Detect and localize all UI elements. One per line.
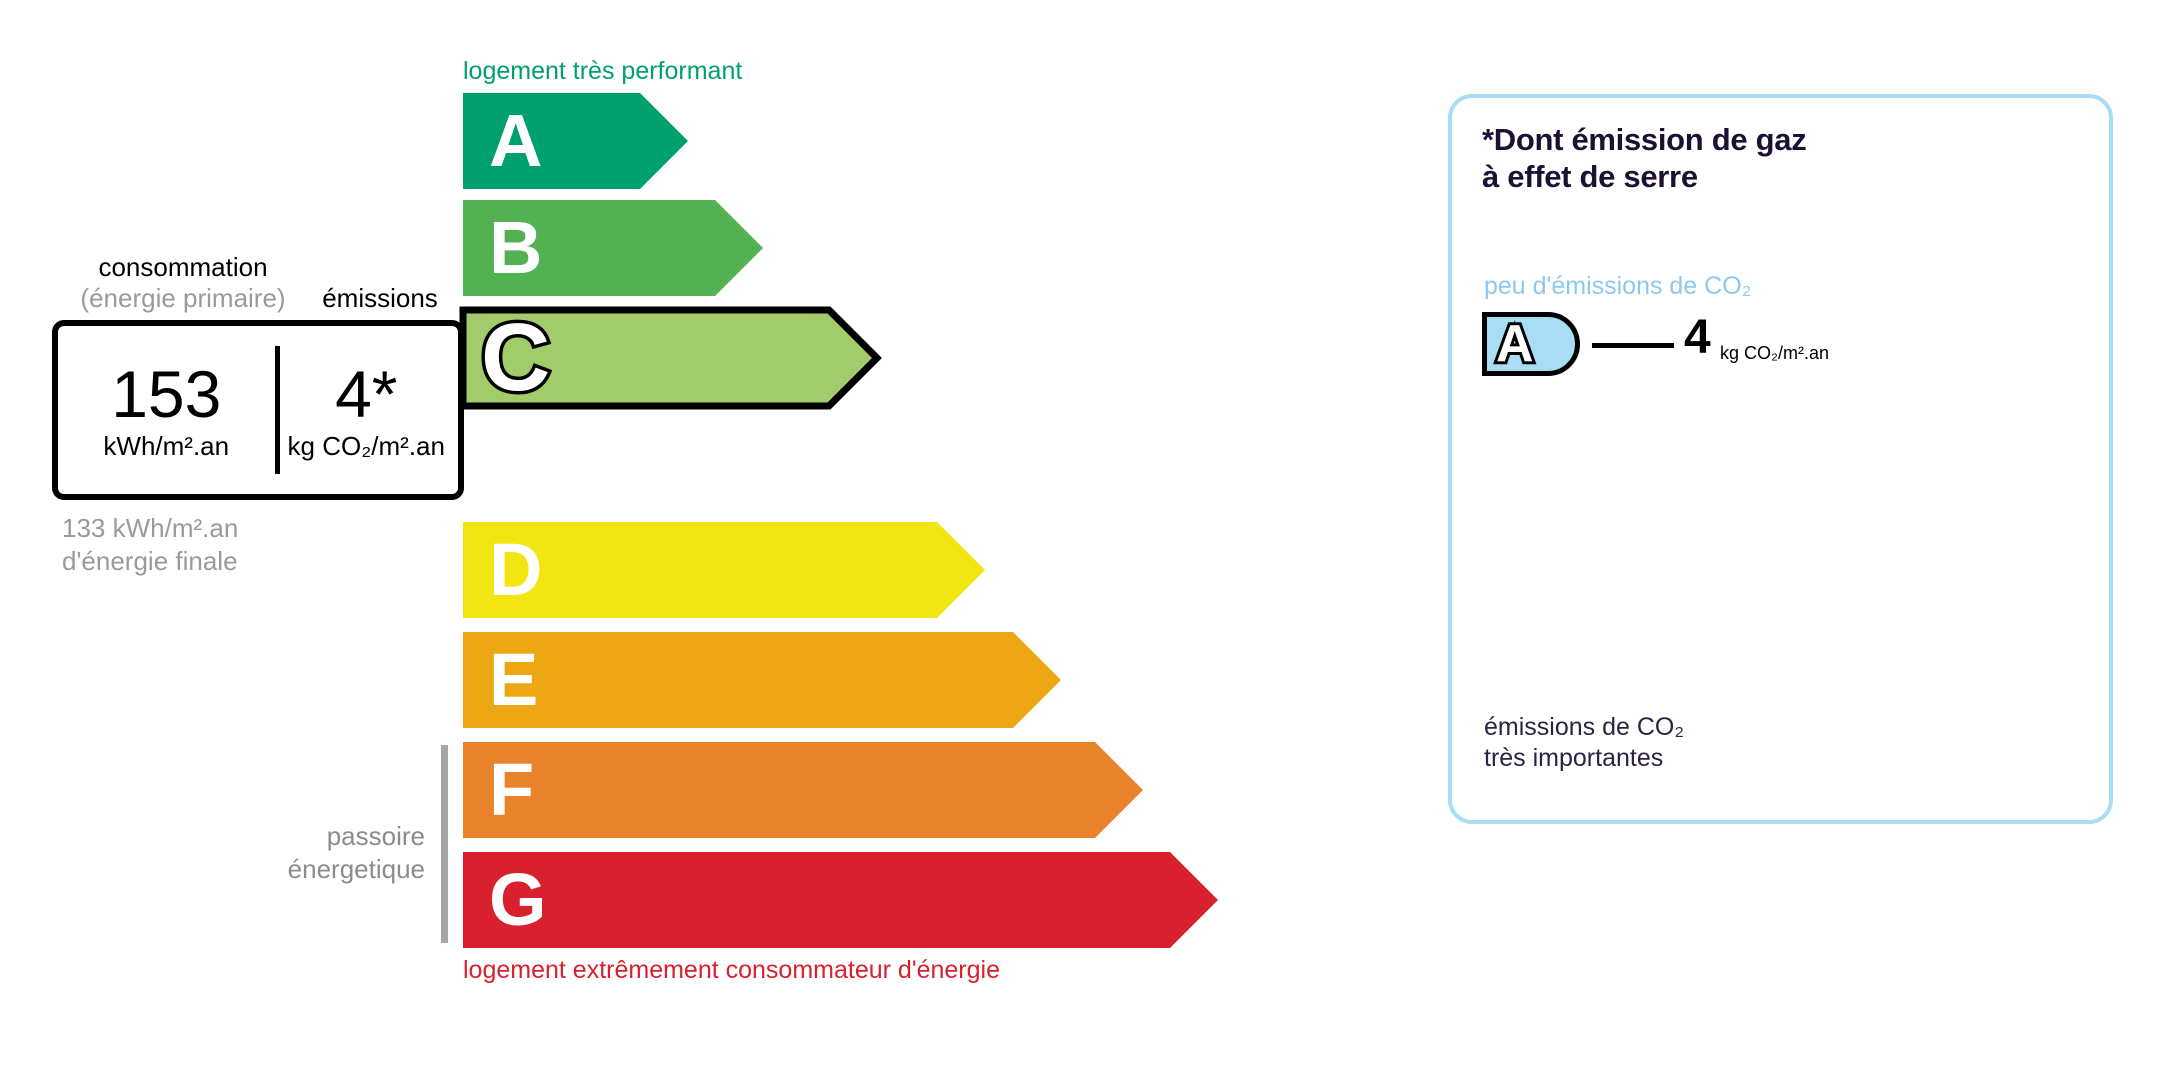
energy-band-d-letter: D [489, 533, 541, 607]
energy-band-g-letter: G [489, 863, 546, 937]
result-box: 153 kWh/m².an 4* kg CO₂/m².an [52, 320, 464, 500]
co2-bottom-line1: émissions de CO₂ [1484, 712, 1684, 743]
energy-band-f: F [463, 742, 1143, 838]
co2-leader-line [1592, 343, 1674, 348]
co2-band-b: B [1484, 388, 1649, 434]
emissions-result-cell: 4* kg CO₂/m².an [275, 326, 458, 494]
consumption-label-main: consommation [98, 252, 267, 282]
co2-title-line2: à effet de serre [1482, 159, 1806, 196]
co2-band-a-letter: A [1496, 318, 1534, 370]
energy-band-f-letter: F [489, 753, 533, 827]
co2-band-g-letter: G [1496, 643, 1524, 679]
energy-band-c-letter: C [481, 310, 549, 406]
consumption-value: 153 [111, 361, 221, 427]
co2-band-e-letter: E [1496, 543, 1520, 579]
energy-band-d: D [463, 522, 985, 618]
energy-scale-top-caption: logement très performant [463, 57, 742, 86]
energy-scale-bottom-caption: logement extrêmement consommateur d'éner… [463, 956, 1000, 985]
energy-band-e-shape [463, 632, 1061, 728]
final-energy-note: 133 kWh/m².an d'énergie finale [62, 512, 238, 579]
energy-band-e-letter: E [489, 643, 537, 717]
co2-band-a-highlighted: A [1482, 312, 1580, 376]
energy-band-b-letter: B [489, 211, 541, 285]
energy-band-f-shape [463, 742, 1143, 838]
energy-band-a-letter: A [489, 104, 541, 178]
co2-panel-title: *Dont émission de gaz à effet de serre [1482, 122, 1806, 195]
final-energy-line1: 133 kWh/m².an [62, 512, 238, 545]
co2-band-f: F [1484, 588, 1789, 634]
emissions-value: 4* [335, 361, 397, 427]
co2-band-c-letter: C [1496, 443, 1522, 479]
energy-band-g: G [463, 852, 1218, 948]
co2-title-line1: *Dont émission de gaz [1482, 122, 1806, 159]
emissions-unit: kg CO₂/m².an [288, 433, 445, 459]
energy-band-a: A [463, 93, 688, 189]
result-divider [275, 346, 280, 474]
consumption-label: consommation (énergie primaire) [65, 252, 301, 313]
consumption-label-sub: (énergie primaire) [65, 283, 301, 314]
co2-band-d-letter: D [1496, 493, 1522, 529]
passoire-line2: énergetique [185, 853, 425, 886]
co2-band-b-letter: B [1496, 393, 1522, 429]
co2-bottom-line2: très importantes [1484, 743, 1684, 774]
co2-emissions-panel: *Dont émission de gaz à effet de serre p… [1448, 94, 2113, 824]
co2-band-d: D [1484, 488, 1719, 534]
energy-band-g-shape [463, 852, 1218, 948]
emissions-label: émissions [300, 283, 460, 314]
co2-band-c: C [1484, 438, 1684, 484]
consumption-unit: kWh/m².an [103, 433, 229, 459]
energy-performance-diagram: logement très performant consommation (é… [0, 0, 1420, 1079]
energy-band-e: E [463, 632, 1061, 728]
consumption-result-cell: 153 kWh/m².an [58, 326, 275, 494]
co2-band-f-letter: F [1496, 593, 1518, 629]
co2-value-unit: kg CO₂/m².an [1720, 343, 1829, 364]
energy-band-c: C [463, 310, 877, 406]
passoire-line1: passoire [185, 820, 425, 853]
passoire-label: passoire énergetique [185, 820, 425, 887]
final-energy-line2: d'énergie finale [62, 545, 238, 578]
co2-bottom-caption: émissions de CO₂ très importantes [1484, 712, 1684, 775]
co2-value: 4 [1684, 314, 1711, 362]
co2-top-caption: peu d'émissions de CO₂ [1484, 272, 1751, 301]
passoire-marker-bar [441, 745, 448, 943]
energy-band-b: B [463, 200, 763, 296]
co2-band-g: G [1484, 638, 1824, 684]
co2-band-e: E [1484, 538, 1754, 584]
